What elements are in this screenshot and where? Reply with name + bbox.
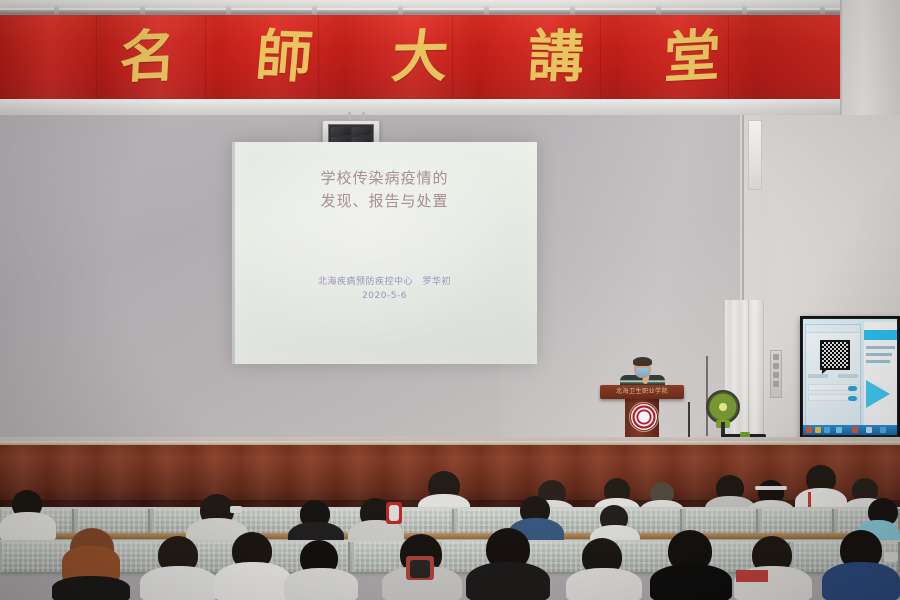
audience-body	[52, 576, 130, 600]
handbag-detail	[389, 505, 399, 521]
face-mask-strap	[755, 486, 787, 490]
hanging-cable	[706, 356, 708, 436]
banner-char-3: 大	[389, 29, 450, 86]
banner-char-4: 講	[527, 29, 586, 86]
audience-body	[466, 562, 550, 600]
wall-control-panel[interactable]	[770, 350, 782, 398]
banner-text: 名 師 大 講 堂	[0, 15, 840, 99]
door-frame	[748, 300, 764, 445]
lecture-hall-photo: 名 師 大 講 堂 学校传染病疫情的 发现、报告与处置 北海疾病预防疾控中心 罗…	[0, 0, 900, 600]
monitor-banner-strip	[864, 330, 897, 340]
podium-emblem-ring	[629, 402, 659, 432]
face-mask	[230, 506, 242, 513]
slide-title: 学校传染病疫情的 发现、报告与处置	[232, 167, 537, 212]
seat-row[interactable]	[0, 507, 900, 535]
slide-title-line-1: 学校传染病疫情的	[232, 167, 537, 190]
monitor-text-line	[866, 346, 895, 349]
banner-char-5: 堂	[663, 28, 721, 87]
monitor-toggle-row[interactable]	[808, 394, 858, 401]
taskbar-icon[interactable]	[866, 427, 872, 433]
taskbar-icon[interactable]	[852, 427, 858, 433]
taskbar-icon[interactable]	[815, 427, 821, 433]
shirt-stripe	[736, 570, 768, 582]
face-mask	[884, 552, 898, 562]
audience-body	[284, 568, 358, 600]
slide-subtitle: 北海疾病预防疾控中心 罗华初 2020-5-6	[232, 275, 537, 304]
audience-body	[214, 562, 292, 600]
handbag-detail	[410, 560, 430, 578]
audience-body	[822, 562, 900, 600]
monitor-text-line	[866, 353, 892, 356]
monitor-toggle-row[interactable]	[808, 384, 858, 391]
taskbar-icon[interactable]	[880, 427, 886, 433]
qr-code	[820, 340, 850, 370]
monitor-dialog-labels	[808, 374, 858, 378]
monitor-dialog-titlebar	[806, 325, 860, 333]
monitor-text-line	[866, 360, 890, 363]
toggle-switch[interactable]	[848, 386, 857, 391]
banner-char-1: 名	[118, 28, 177, 86]
fan-hub	[719, 403, 727, 411]
toggle-switch[interactable]	[848, 396, 857, 401]
podium-institution-text: 北海卫生职业学院	[600, 386, 684, 398]
banner-rail-highlight	[0, 8, 848, 10]
audience-body	[650, 564, 732, 600]
taskbar-icon[interactable]	[836, 427, 842, 433]
banner-char-2: 師	[254, 28, 315, 86]
taskbar-icon[interactable]	[824, 427, 830, 433]
presenter-hair	[633, 357, 652, 366]
slide-date: 2020-5-6	[232, 289, 537, 303]
audience-body	[0, 512, 56, 542]
audience-body	[566, 568, 642, 600]
presenter-face-mask	[636, 368, 649, 376]
slide-presenter: 北海疾病预防疾控中心 罗华初	[232, 275, 537, 289]
monitor-arrow-shape	[866, 380, 890, 408]
soffit	[0, 99, 840, 115]
seat-back[interactable]	[760, 509, 834, 535]
taskbar-icon[interactable]	[806, 427, 812, 433]
audience-body	[140, 566, 218, 600]
wall-light-slot	[748, 120, 762, 190]
slide-title-line-2: 发现、报告与处置	[232, 190, 537, 213]
